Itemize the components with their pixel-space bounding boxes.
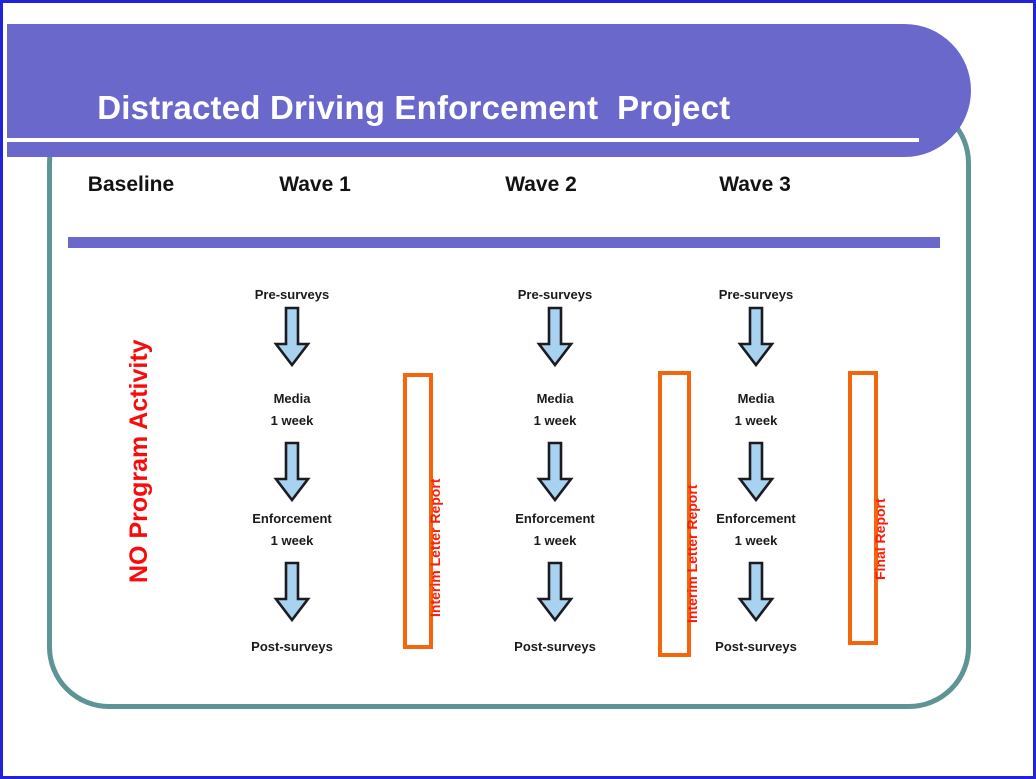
wave-3-arrow-1-down-arrow-icon [737,306,775,368]
slide-canvas: Distracted Driving Enforcement Project D… [0,0,1036,779]
wave-2-step-media-duration: 1 week [534,413,577,428]
title-underline [7,138,919,142]
wave-2-step-media-label: Media [537,391,574,406]
column-header-wave-3: Wave 3 [675,173,835,197]
report-box-interim-letter-report-1: Interim Letter Report [403,373,433,649]
wave-1-step-post-surveys: Post-surveys [192,636,392,658]
wave-3-arrow-2-down-arrow-icon [737,441,775,503]
wave-1-step-media: Media1 week [192,388,392,432]
wave-3-step-media-label: Media [738,391,775,406]
wave-1-step-media-duration: 1 week [271,413,314,428]
wave-1-step-enforcement: Enforcement1 week [192,508,392,552]
wave-2-step-pre-surveys: Pre-surveys [455,284,655,306]
wave-3-step-media-duration: 1 week [735,413,778,428]
column-header-wave-2: Wave 2 [461,173,621,197]
wave-3-arrow-3-down-arrow-icon [737,561,775,623]
wave-3-step-enforcement-duration: 1 week [735,533,778,548]
wave-1-step-enforcement-label: Enforcement [252,511,331,526]
wave-2-step-media: Media1 week [455,388,655,432]
wave-2-arrow-1-down-arrow-icon [536,306,574,368]
wave-3-step-enforcement-label: Enforcement [716,511,795,526]
report-box-final-report: Final Report [848,371,878,645]
wave-1-arrow-3-down-arrow-icon [273,561,311,623]
baseline-no-program-activity-label: NO Program Activity [125,339,154,583]
wave-2-step-enforcement-label: Enforcement [515,511,594,526]
wave-1-arrow-2-down-arrow-icon [273,441,311,503]
report-box-label-3: Final Report [872,498,888,580]
wave-2-step-enforcement: Enforcement1 week [455,508,655,552]
wave-2-arrow-3-down-arrow-icon [536,561,574,623]
wave-1-step-pre-surveys: Pre-surveys [192,284,392,306]
report-box-label-2: Interim Letter Report [684,485,700,623]
wave-3-step-pre-surveys: Pre-surveys [656,284,856,306]
page-title-line-1: Distracted Driving Enforcement Project [97,89,730,126]
column-header-baseline: Baseline [51,173,211,197]
report-box-interim-letter-report-2: Interim Letter Report [658,371,691,657]
wave-1-step-media-label: Media [274,391,311,406]
wave-2-arrow-2-down-arrow-icon [536,441,574,503]
column-header-wave-1: Wave 1 [235,173,395,197]
wave-2-step-enforcement-duration: 1 week [534,533,577,548]
title-banner: Distracted Driving Enforcement Project D… [7,24,971,157]
report-box-label-1: Interim Letter Report [427,479,443,617]
wave-1-arrow-1-down-arrow-icon [273,306,311,368]
wave-1-step-enforcement-duration: 1 week [271,533,314,548]
timeline-divider-bar [68,237,940,248]
wave-2-step-post-surveys: Post-surveys [455,636,655,658]
